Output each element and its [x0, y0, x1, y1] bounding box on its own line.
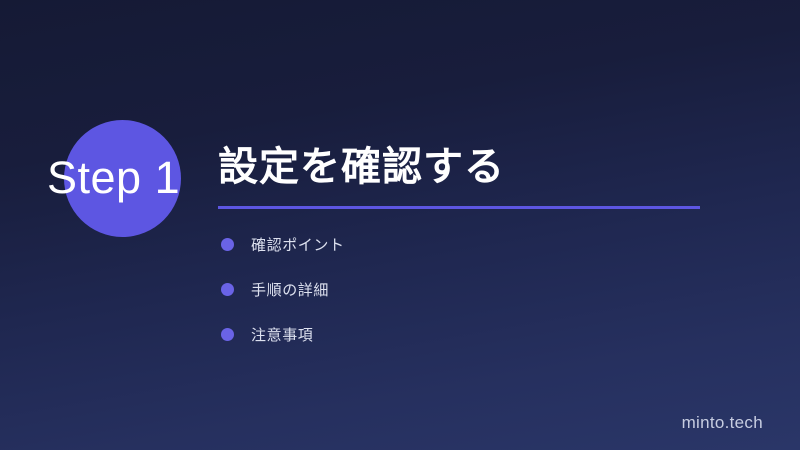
bullet-dot-icon: [221, 283, 234, 296]
list-item-label: 手順の詳細: [251, 279, 329, 300]
slide-content: 設定を確認する 確認ポイント 手順の詳細 注意事項: [218, 140, 738, 368]
bullet-list: 確認ポイント 手順の詳細 注意事項: [218, 233, 738, 345]
list-item-label: 注意事項: [251, 324, 313, 345]
list-item: 確認ポイント: [218, 233, 738, 255]
bullet-dot-icon: [221, 328, 234, 341]
slide-canvas: Step 1 設定を確認する 確認ポイント 手順の詳細 注意事項 minto.t…: [0, 0, 800, 450]
footer-brand: minto.tech: [682, 413, 763, 433]
list-item: 手順の詳細: [218, 278, 738, 300]
step-badge: Step 1: [0, 118, 210, 238]
step-label: Step 1: [47, 130, 207, 226]
bullet-dot-icon: [221, 238, 234, 251]
title-divider: [218, 206, 700, 209]
list-item-label: 確認ポイント: [251, 234, 345, 255]
list-item: 注意事項: [218, 323, 738, 345]
page-title: 設定を確認する: [218, 140, 738, 194]
